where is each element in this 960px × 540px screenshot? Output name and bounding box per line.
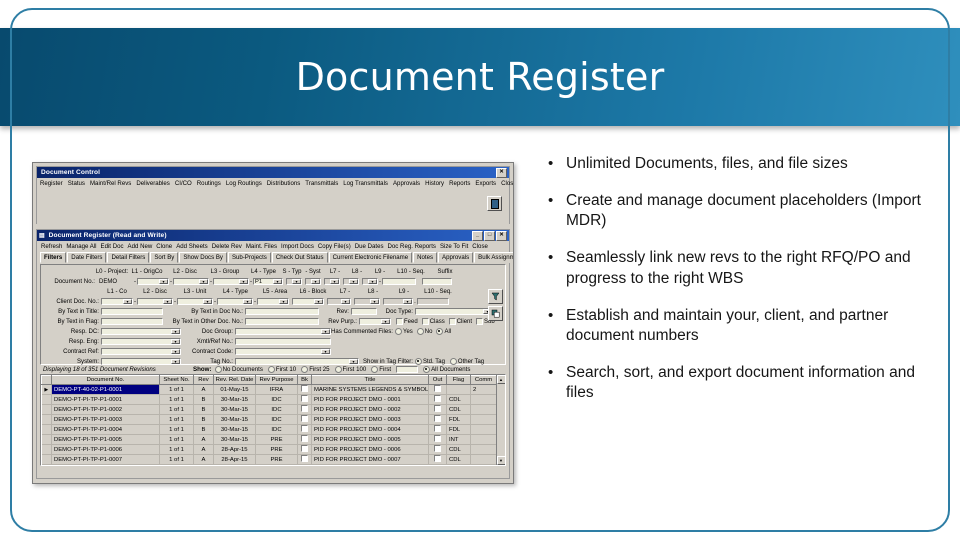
document-no-label: Document No.: bbox=[43, 278, 97, 285]
bk-checkbox[interactable] bbox=[301, 415, 308, 422]
cell-document-no: DEMO-PT-PI-TP-P1-0003 bbox=[52, 415, 160, 425]
bk-checkbox[interactable] bbox=[301, 455, 308, 462]
bk-checkbox[interactable] bbox=[301, 425, 308, 432]
by-text-in-title-field[interactable] bbox=[101, 308, 163, 315]
commented-all-radio[interactable]: All bbox=[436, 328, 451, 335]
out-checkbox[interactable] bbox=[434, 435, 441, 442]
cell-out[interactable] bbox=[429, 445, 447, 455]
toolbar-item-7[interactable]: Maint. Files bbox=[246, 243, 277, 250]
contract-code-label: Contract Code: bbox=[181, 348, 235, 355]
rev-field[interactable] bbox=[351, 308, 377, 315]
chevron-down-icon[interactable]: ▾ bbox=[171, 359, 180, 364]
cell-rev: A bbox=[194, 445, 214, 455]
out-checkbox[interactable] bbox=[434, 395, 441, 402]
cell-rev-purpose: IFRA bbox=[256, 385, 298, 395]
chevron-down-icon[interactable]: ▾ bbox=[349, 279, 358, 284]
toolbar-item-13[interactable]: Close bbox=[472, 243, 488, 250]
other-tag-radio[interactable]: Other Tag bbox=[450, 358, 484, 365]
client-doc-l9-select[interactable]: ▾ bbox=[383, 298, 413, 305]
bullet-marker-icon: • bbox=[548, 248, 566, 288]
chevron-down-icon[interactable]: ▾ bbox=[341, 299, 350, 304]
cell-bk[interactable] bbox=[298, 465, 312, 467]
out-checkbox[interactable] bbox=[434, 445, 441, 452]
toolbar-item-6[interactable]: Delete Rev bbox=[212, 243, 242, 250]
doc-no-seq-field[interactable] bbox=[382, 278, 416, 285]
doc-no-header-l3: L3 - Group bbox=[205, 269, 245, 275]
chevron-down-icon[interactable]: ▾ bbox=[239, 279, 248, 284]
doc-no-styp-select[interactable]: ▾ bbox=[286, 278, 302, 285]
chevron-down-icon[interactable]: ▾ bbox=[321, 349, 330, 354]
cell-title: PID FOR PROJECT DMO - 0004 bbox=[312, 425, 429, 435]
cell-sheet-no: 1 of 1 bbox=[160, 425, 194, 435]
chevron-down-icon[interactable]: ▾ bbox=[279, 299, 288, 304]
cell-rev-purpose: PRE bbox=[256, 465, 298, 467]
table-row[interactable]: ▶DEMO-PT-40-02-P1-00011 of 1A01-May-15IF… bbox=[42, 385, 497, 395]
cell-title: PID FOR PROJECT DMO - 0001 bbox=[312, 395, 429, 405]
cell-bk[interactable] bbox=[298, 435, 312, 445]
menu-item-11[interactable]: History bbox=[425, 180, 444, 187]
out-checkbox[interactable] bbox=[434, 425, 441, 432]
bullet-text: Create and manage document placeholders … bbox=[566, 191, 940, 231]
cell-rev-purpose: PRE bbox=[256, 445, 298, 455]
by-text-in-flag-field[interactable] bbox=[101, 318, 163, 325]
bullet-text: Establish and maintain your, client, and… bbox=[566, 306, 940, 346]
chevron-down-icon[interactable]: ▾ bbox=[171, 329, 180, 334]
chevron-down-icon[interactable]: ▾ bbox=[159, 279, 168, 284]
cell-out[interactable] bbox=[429, 385, 447, 395]
chevron-down-icon[interactable]: ▾ bbox=[330, 279, 339, 284]
doc-no-header-suffix: Suffix bbox=[430, 269, 460, 275]
out-checkbox[interactable] bbox=[434, 405, 441, 412]
cell-rev-rel-date: 01-May-15 bbox=[214, 385, 256, 395]
toolbar-item-5[interactable]: Add Sheets bbox=[176, 243, 208, 250]
show-first-100-radio[interactable]: First 100 bbox=[335, 366, 367, 373]
cell-flag: CDL bbox=[447, 455, 471, 465]
cell-rev-purpose: IDC bbox=[256, 395, 298, 405]
document-revisions-grid[interactable]: Document No.Sheet No.RevRev. Rel. DateRe… bbox=[40, 374, 506, 466]
cell-rev: B bbox=[194, 405, 214, 415]
toolbar-item-1[interactable]: Manage All bbox=[66, 243, 96, 250]
tab-show-docs-by[interactable]: Show Docs By bbox=[179, 252, 227, 263]
menu-item-8[interactable]: Transmittals bbox=[305, 180, 338, 187]
by-text-in-flag-label: By Text in Flag: bbox=[43, 318, 101, 325]
document-icon bbox=[491, 199, 499, 209]
doc-no-type-select[interactable]: P1▾ bbox=[253, 278, 283, 285]
table-header-row: Document No.Sheet No.RevRev. Rel. DateRe… bbox=[42, 376, 497, 385]
cell-title: PID FOR PROJECT DMO - 0003 bbox=[312, 415, 429, 425]
document-register-titlebar: ▤ Document Register (Read and Write) _ □… bbox=[37, 230, 509, 241]
menu-item-4[interactable]: CI/CO bbox=[175, 180, 192, 187]
bullet-marker-icon: • bbox=[548, 306, 566, 346]
client-doc-block-select[interactable]: ▾ bbox=[292, 298, 324, 305]
tab-notes[interactable]: Notes bbox=[413, 252, 437, 263]
cell-out[interactable] bbox=[429, 405, 447, 415]
maximize-icon[interactable]: □ bbox=[484, 231, 495, 241]
filters-panel: L0 - Project: L1 - OrigCo L2 - Disc L3 -… bbox=[40, 264, 506, 365]
cell-comm: 2 bbox=[471, 385, 497, 395]
resp-eng-select[interactable]: ▾ bbox=[101, 338, 181, 345]
document-table: Document No.Sheet No.RevRev. Rel. DateRe… bbox=[41, 375, 497, 466]
cell-comm bbox=[471, 415, 497, 425]
funnel-icon bbox=[491, 292, 500, 301]
doc-no-syst-select[interactable]: ▾ bbox=[305, 278, 321, 285]
cell-sheet-no: 1 of 1 bbox=[160, 445, 194, 455]
toolbar-item-2[interactable]: Edit Doc bbox=[101, 243, 124, 250]
doc-no-header-l10: L10 - Seq. bbox=[392, 269, 430, 275]
tab-date-filters[interactable]: Date Filters bbox=[67, 252, 106, 263]
grid-vertical-scrollbar[interactable]: ▲ ▼ bbox=[496, 375, 505, 465]
bk-checkbox[interactable] bbox=[301, 385, 308, 392]
row-selector bbox=[42, 435, 52, 445]
cell-rev-rel-date: 30-Mar-15 bbox=[214, 425, 256, 435]
doc-no-l8-select[interactable]: ▾ bbox=[343, 278, 359, 285]
cell-comm bbox=[471, 425, 497, 435]
cell-comm bbox=[471, 465, 497, 467]
tab-sub-projects[interactable]: Sub-Projects bbox=[228, 252, 271, 263]
show-first-25-radio[interactable]: First 25 bbox=[301, 366, 329, 373]
cell-flag bbox=[447, 385, 471, 395]
menu-item-7[interactable]: Distributions bbox=[267, 180, 301, 187]
client-doc-no-label: Client Doc. No.: bbox=[43, 298, 101, 305]
client-checkbox[interactable]: Client bbox=[449, 318, 472, 325]
doc-no-l7-select[interactable]: ▾ bbox=[324, 278, 340, 285]
cell-rev: B bbox=[194, 395, 214, 405]
menu-item-12[interactable]: Reports bbox=[449, 180, 470, 187]
cell-flag: CDL bbox=[447, 395, 471, 405]
cell-bk[interactable] bbox=[298, 405, 312, 415]
table-row[interactable]: DEMO-PT-PI-TP-P1-00041 of 1B30-Mar-15IDC… bbox=[42, 425, 497, 435]
cell-rev-purpose: PRE bbox=[256, 455, 298, 465]
document-preview-button[interactable] bbox=[487, 196, 502, 211]
chevron-down-icon[interactable]: ▾ bbox=[349, 359, 358, 364]
close-icon[interactable]: ✕ bbox=[496, 231, 507, 241]
show-first-n-radio[interactable]: First bbox=[371, 366, 391, 373]
cell-sheet-no: 1 of 1 bbox=[160, 455, 194, 465]
chevron-down-icon[interactable]: ▾ bbox=[292, 279, 301, 284]
by-text-in-doc-no-label: By Text in Doc No.: bbox=[163, 308, 245, 315]
document-register-window: ▤ Document Register (Read and Write) _ □… bbox=[36, 229, 510, 479]
cell-out[interactable] bbox=[429, 415, 447, 425]
toolbar-item-4[interactable]: Clone bbox=[156, 243, 172, 250]
column-header-3[interactable]: Rev bbox=[194, 376, 214, 385]
menu-item-3[interactable]: Deliverables bbox=[136, 180, 170, 187]
close-icon[interactable]: ✕ bbox=[496, 168, 507, 178]
cell-bk[interactable] bbox=[298, 455, 312, 465]
by-text-in-title-label: By Text in Title: bbox=[43, 308, 101, 315]
out-checkbox[interactable] bbox=[434, 455, 441, 462]
copy-icon bbox=[491, 309, 500, 318]
cell-flag: CDL bbox=[447, 445, 471, 455]
chevron-down-icon[interactable]: ▾ bbox=[381, 319, 390, 324]
cell-sheet-no: 1 of 1 bbox=[160, 415, 194, 425]
cell-bk[interactable] bbox=[298, 445, 312, 455]
doc-no-header-l0: L0 - Project: bbox=[95, 269, 129, 275]
doc-no-l9-select[interactable]: ▾ bbox=[362, 278, 378, 285]
chevron-down-icon[interactable]: ▾ bbox=[403, 299, 412, 304]
client-doc-header-l4: L4 - Type bbox=[215, 289, 256, 295]
client-doc-area-select[interactable]: ▾ bbox=[257, 298, 289, 305]
table-row[interactable]: DEMO-PT-PI-TP-P1-00031 of 1B30-Mar-15IDC… bbox=[42, 415, 497, 425]
cell-rev-rel-date: 28-Apr-15 bbox=[214, 455, 256, 465]
cell-out[interactable] bbox=[429, 455, 447, 465]
show-first-10-radio[interactable]: First 10 bbox=[268, 366, 296, 373]
table-row[interactable]: DEMO-PT-PI-TP-P1-00071 of 1A28-Apr-15PRE… bbox=[42, 455, 497, 465]
column-header-6[interactable]: Bk bbox=[298, 376, 312, 385]
cell-bk[interactable] bbox=[298, 395, 312, 405]
window-title: Document Register (Read and Write) bbox=[47, 232, 472, 239]
minimize-icon[interactable]: _ bbox=[472, 231, 483, 241]
filter-tabs: FiltersDate FiltersDetail FiltersSort By… bbox=[37, 252, 509, 263]
doc-no-group-select[interactable]: ▾ bbox=[213, 278, 249, 285]
cell-title: MARINE SYSTEMS LEGENDS & SYMBOLS PID bbox=[312, 385, 429, 395]
class-checkbox[interactable]: Class bbox=[422, 318, 445, 325]
chevron-down-icon[interactable]: ▾ bbox=[273, 279, 282, 284]
chevron-down-icon[interactable]: ▾ bbox=[171, 339, 180, 344]
column-header-9[interactable]: Flag bbox=[447, 376, 471, 385]
list-item: • Create and manage document placeholder… bbox=[548, 191, 940, 231]
client-doc-type-select[interactable]: ▾ bbox=[217, 298, 253, 305]
cell-title: PID FOR PROJECT DMO - 0006 bbox=[312, 445, 429, 455]
doc-group-label: Doc Group: bbox=[181, 328, 235, 335]
doc-no-header-l9: L9 - bbox=[368, 269, 392, 275]
cell-title: PID FOR PROJECT DMO - 0005 bbox=[312, 435, 429, 445]
table-row[interactable]: DEMO-PT-PI-TP-P1-00061 of 1A28-Apr-15PRE… bbox=[42, 445, 497, 455]
cell-comm bbox=[471, 445, 497, 455]
menu-item-2[interactable]: Maint/Rel Revs bbox=[90, 180, 131, 187]
cell-rev-purpose: PRE bbox=[256, 435, 298, 445]
column-header-8[interactable]: Out bbox=[429, 376, 447, 385]
commented-yes-radio[interactable]: Yes bbox=[395, 328, 413, 335]
client-doc-header-l5: L5 - Area bbox=[256, 289, 294, 295]
menu-item-10[interactable]: Approvals bbox=[393, 180, 420, 187]
bk-checkbox[interactable] bbox=[301, 405, 308, 412]
resp-dc-select[interactable]: ▾ bbox=[101, 328, 181, 335]
column-header-10[interactable]: Comm bbox=[471, 376, 497, 385]
menu-item-9[interactable]: Log Transmittals bbox=[343, 180, 388, 187]
page-title: Document Register bbox=[0, 28, 960, 126]
toolbar-item-11[interactable]: Doc Reg. Reports bbox=[388, 243, 436, 250]
cell-bk[interactable] bbox=[298, 425, 312, 435]
cell-document-no: DEMO-PT-40-02-P1-0001 bbox=[52, 385, 160, 395]
chevron-down-icon[interactable]: ▾ bbox=[370, 299, 379, 304]
column-header-2[interactable]: Sheet No. bbox=[160, 376, 194, 385]
table-row[interactable]: DEMO-PT-PI-TP-P1-00051 of 1A30-Mar-15PRE… bbox=[42, 435, 497, 445]
client-doc-header-l2: L2 - Disc bbox=[135, 289, 175, 295]
cell-out[interactable] bbox=[429, 465, 447, 467]
displaying-count-text: Displaying 18 of 351 Document Revisions bbox=[43, 366, 193, 373]
doc-no-header-styp: S - Typ bbox=[282, 269, 302, 275]
contract-code-select[interactable]: ▾ bbox=[235, 348, 331, 355]
chevron-down-icon[interactable]: ▾ bbox=[203, 299, 212, 304]
cell-rev-rel-date: 30-Mar-15 bbox=[214, 415, 256, 425]
chevron-down-icon[interactable]: ▾ bbox=[199, 279, 208, 284]
toolbar-item-3[interactable]: Add New bbox=[128, 243, 153, 250]
tab-detail-filters[interactable]: Detail Filters bbox=[107, 252, 149, 263]
bk-checkbox[interactable] bbox=[301, 445, 308, 452]
scroll-up-icon[interactable]: ▲ bbox=[497, 375, 506, 384]
tab-approvals[interactable]: Approvals bbox=[438, 252, 473, 263]
tab-current-electronic-filename[interactable]: Current Electronic Filename bbox=[329, 252, 413, 263]
toolbar-item-10[interactable]: Due Dates bbox=[355, 243, 384, 250]
grid-status-row: Displaying 18 of 351 Document Revisions … bbox=[37, 365, 509, 373]
show-no-documents-radio[interactable]: No Documents bbox=[215, 366, 263, 373]
out-checkbox[interactable] bbox=[434, 415, 441, 422]
resp-eng-label: Resp. Eng: bbox=[43, 338, 101, 345]
client-doc-header-l9: L9 - bbox=[388, 289, 420, 295]
cell-bk[interactable] bbox=[298, 385, 312, 395]
clear-filter-button[interactable] bbox=[488, 306, 503, 321]
row-selector bbox=[42, 455, 52, 465]
toolbar-item-9[interactable]: Copy File(s) bbox=[318, 243, 351, 250]
cell-out[interactable] bbox=[429, 435, 447, 445]
cell-rev: A bbox=[194, 385, 214, 395]
chevron-down-icon[interactable]: ▾ bbox=[314, 299, 323, 304]
system-label: System: bbox=[43, 358, 101, 365]
chevron-down-icon[interactable]: ▾ bbox=[163, 299, 172, 304]
client-doc-disc-select[interactable]: ▾ bbox=[137, 298, 173, 305]
bullet-marker-icon: • bbox=[548, 363, 566, 403]
cell-bk[interactable] bbox=[298, 415, 312, 425]
list-item: • Unlimited Documents, files, and file s… bbox=[548, 154, 940, 174]
cell-comm bbox=[471, 405, 497, 415]
scroll-down-icon[interactable]: ▼ bbox=[497, 456, 506, 465]
bullet-text: Seamlessly link new revs to the right RF… bbox=[566, 248, 940, 288]
toolbar-item-8[interactable]: Import Docs bbox=[281, 243, 314, 250]
system-select[interactable]: ▾ bbox=[101, 358, 181, 365]
menu-item-5[interactable]: Routings bbox=[197, 180, 221, 187]
menu-item-1[interactable]: Status bbox=[68, 180, 85, 187]
rev-purp-select[interactable]: ▾ bbox=[359, 318, 391, 325]
client-doc-l7-select[interactable]: ▾ bbox=[327, 298, 351, 305]
table-row[interactable]: DEMO-PT-PI-TP-P1-00081 of 1A28-Apr-15PRE… bbox=[42, 465, 497, 467]
doc-group-select[interactable]: ▾ bbox=[235, 328, 331, 335]
cell-out[interactable] bbox=[429, 395, 447, 405]
tag-no-select[interactable]: ▾ bbox=[235, 358, 359, 365]
rev-label: Rev: bbox=[319, 308, 351, 315]
out-checkbox[interactable] bbox=[434, 465, 441, 466]
show-first-n-field[interactable] bbox=[396, 366, 418, 373]
column-header-5[interactable]: Rev Purpose bbox=[256, 376, 298, 385]
doc-no-origco-select[interactable]: ▾ bbox=[137, 278, 169, 285]
bk-checkbox[interactable] bbox=[301, 395, 308, 402]
chevron-down-icon[interactable]: ▾ bbox=[321, 329, 330, 334]
client-doc-co-select[interactable]: ▾ bbox=[101, 298, 133, 305]
client-doc-header-l10: L10 - Seq. bbox=[420, 289, 456, 295]
show-all-documents-radio[interactable]: All Documents bbox=[423, 366, 470, 373]
list-item: • Search, sort, and export document info… bbox=[548, 363, 940, 403]
cell-rev: A bbox=[194, 435, 214, 445]
column-header-4[interactable]: Rev. Rel. Date bbox=[214, 376, 256, 385]
menu-item-6[interactable]: Log Routings bbox=[226, 180, 262, 187]
contract-ref-label: Contract Ref: bbox=[43, 348, 101, 355]
cell-flag: FDL bbox=[447, 425, 471, 435]
cell-flag: CDL bbox=[447, 405, 471, 415]
client-doc-seq-field[interactable] bbox=[417, 298, 449, 305]
cell-document-no: DEMO-PT-PI-TP-P1-0007 bbox=[52, 455, 160, 465]
feed-checkbox[interactable]: Feed bbox=[396, 318, 418, 325]
bk-checkbox[interactable] bbox=[301, 465, 308, 466]
doc-type-select[interactable]: ▾ bbox=[415, 308, 493, 315]
menu-item-0[interactable]: Register bbox=[40, 180, 63, 187]
window-title: Document Control bbox=[39, 169, 496, 176]
by-text-in-doc-no-field[interactable] bbox=[245, 308, 319, 315]
cell-comm bbox=[471, 435, 497, 445]
cell-document-no: DEMO-PT-PI-TP-P1-0005 bbox=[52, 435, 160, 445]
column-header-7[interactable]: Title bbox=[312, 376, 429, 385]
by-text-in-other-doc-no-field[interactable] bbox=[245, 318, 319, 325]
doc-no-header-l2: L2 - Disc bbox=[165, 269, 205, 275]
tab-sort-by[interactable]: Sort By bbox=[150, 252, 178, 263]
cell-rev-rel-date: 30-Mar-15 bbox=[214, 395, 256, 405]
toolbar-item-12[interactable]: Size To Fit bbox=[440, 243, 468, 250]
xmtl-ref-no-field[interactable] bbox=[235, 338, 331, 345]
cell-sheet-no: 1 of 1 bbox=[160, 435, 194, 445]
doc-no-suffix-field[interactable] bbox=[422, 278, 452, 285]
std-tag-radio[interactable]: Std. Tag bbox=[415, 358, 445, 365]
cell-document-no: DEMO-PT-PI-TP-P1-0006 bbox=[52, 445, 160, 455]
bk-checkbox[interactable] bbox=[301, 435, 308, 442]
contract-ref-select[interactable]: ▾ bbox=[101, 348, 181, 355]
register-toolbar: RefreshManage AllEdit DocAdd NewCloneAdd… bbox=[37, 241, 509, 251]
cell-out[interactable] bbox=[429, 425, 447, 435]
table-row[interactable]: DEMO-PT-PI-TP-P1-00011 of 1B30-Mar-15IDC… bbox=[42, 395, 497, 405]
document-control-titlebar: Document Control ✕ bbox=[37, 167, 509, 178]
cell-sheet-no: 1 of 1 bbox=[160, 385, 194, 395]
chevron-down-icon[interactable]: ▾ bbox=[243, 299, 252, 304]
cell-comm bbox=[471, 455, 497, 465]
cell-rev: A bbox=[194, 465, 214, 467]
tab-check-out-status[interactable]: Check Out Status bbox=[272, 252, 328, 263]
list-item: • Establish and maintain your, client, a… bbox=[548, 306, 940, 346]
toolbar-item-0[interactable]: Refresh bbox=[41, 243, 62, 250]
chevron-down-icon[interactable]: ▾ bbox=[368, 279, 377, 284]
column-header-0[interactable] bbox=[42, 376, 52, 385]
client-doc-l8-select[interactable]: ▾ bbox=[354, 298, 380, 305]
cell-rev-purpose: IDC bbox=[256, 415, 298, 425]
cell-rev-rel-date: 30-Mar-15 bbox=[214, 405, 256, 415]
column-header-1[interactable]: Document No. bbox=[52, 376, 160, 385]
out-checkbox[interactable] bbox=[434, 385, 441, 392]
chevron-down-icon[interactable]: ▾ bbox=[311, 279, 320, 284]
cell-flag: FDL bbox=[447, 415, 471, 425]
client-doc-header-l7: L7 - bbox=[332, 289, 358, 295]
menu-item-14[interactable]: Close All bbox=[501, 180, 514, 187]
cell-sheet-no: 1 of 1 bbox=[160, 405, 194, 415]
table-row[interactable]: DEMO-PT-PI-TP-P1-00021 of 1B30-Mar-15IDC… bbox=[42, 405, 497, 415]
doc-no-header-syst: - Syst bbox=[302, 269, 324, 275]
tab-filters[interactable]: Filters bbox=[40, 252, 66, 263]
commented-no-radio[interactable]: No bbox=[417, 328, 433, 335]
doc-no-disc-select[interactable]: ▾ bbox=[173, 278, 209, 285]
tab-bulk-assignments[interactable]: Bulk Assignments bbox=[474, 252, 514, 263]
doc-type-label: Doc Type: bbox=[377, 308, 415, 315]
chevron-down-icon[interactable]: ▾ bbox=[171, 349, 180, 354]
menu-item-13[interactable]: Exports bbox=[475, 180, 496, 187]
apply-filter-button[interactable] bbox=[488, 289, 503, 304]
cell-flag: INT bbox=[447, 435, 471, 445]
bullet-marker-icon: • bbox=[548, 154, 566, 174]
show-in-tag-filter-label: Show in Tag Filter: bbox=[359, 358, 415, 365]
client-doc-header-l3: L3 - Unit bbox=[175, 289, 215, 295]
cell-rev-purpose: IDC bbox=[256, 425, 298, 435]
cell-title: PID FOR PROJECT DMO - 0007 bbox=[312, 455, 429, 465]
client-doc-header-l8: L8 - bbox=[358, 289, 388, 295]
list-item: • Seamlessly link new revs to the right … bbox=[548, 248, 940, 288]
chevron-down-icon[interactable]: ▾ bbox=[123, 299, 132, 304]
cell-document-no: DEMO-PT-PI-TP-P1-0004 bbox=[52, 425, 160, 435]
doc-no-header-l4: L4 - Type bbox=[245, 269, 282, 275]
client-doc-unit-select[interactable]: ▾ bbox=[177, 298, 213, 305]
